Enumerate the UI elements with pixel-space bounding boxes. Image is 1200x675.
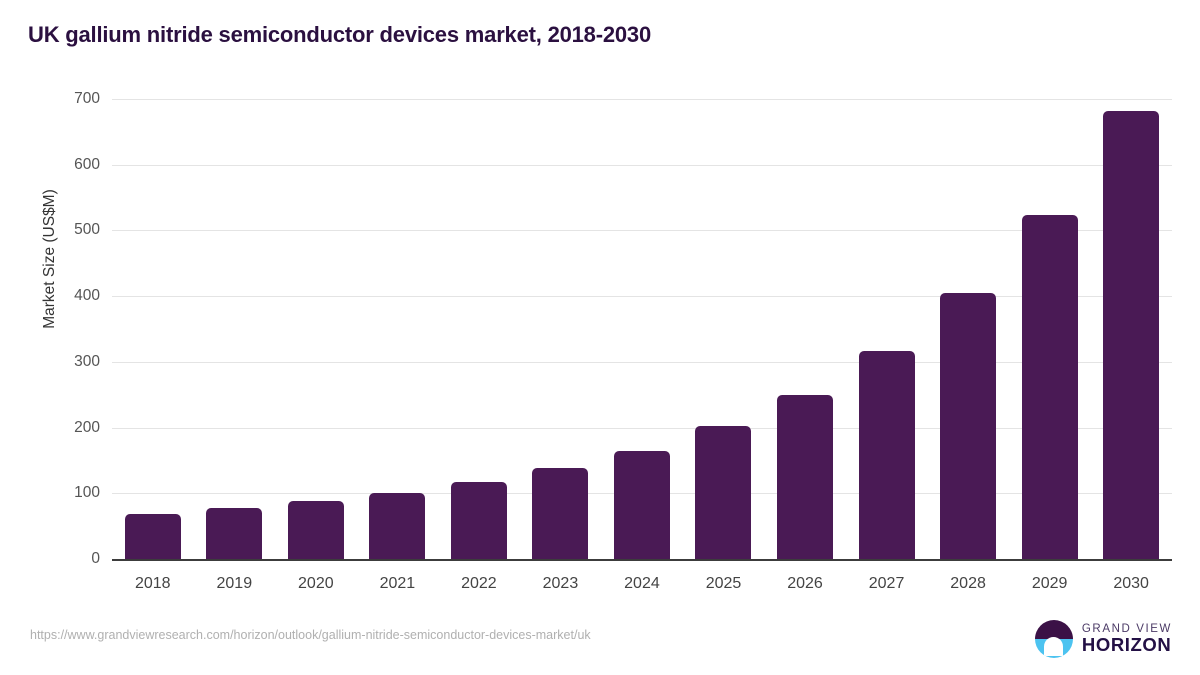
x-axis-ticks: 2018201920202021202220232024202520262027… bbox=[112, 559, 1172, 599]
bar-slot bbox=[520, 99, 602, 559]
bar-slot bbox=[683, 99, 765, 559]
bar-series bbox=[112, 99, 1172, 559]
sun-ray-2 bbox=[1049, 651, 1059, 654]
x-axis-tick-label: 2029 bbox=[1009, 559, 1091, 599]
bar-slot bbox=[357, 99, 439, 559]
x-axis-tick-label: 2025 bbox=[683, 559, 765, 599]
x-axis-tick-label: 2021 bbox=[357, 559, 439, 599]
source-url[interactable]: https://www.grandviewresearch.com/horizo… bbox=[30, 628, 591, 642]
logo-line-2: HORIZON bbox=[1082, 635, 1172, 654]
bar-2018[interactable] bbox=[125, 514, 181, 559]
bar-2020[interactable] bbox=[288, 501, 344, 559]
bar-slot bbox=[927, 99, 1009, 559]
bar-slot bbox=[846, 99, 928, 559]
x-axis-tick-label: 2022 bbox=[438, 559, 520, 599]
bar-slot bbox=[764, 99, 846, 559]
sun-ray-1 bbox=[1046, 647, 1061, 650]
x-axis-tick-label: 2024 bbox=[601, 559, 683, 599]
bar-2026[interactable] bbox=[777, 395, 833, 559]
x-axis-tick-label: 2020 bbox=[275, 559, 357, 599]
chart-page: UK gallium nitride semiconductor devices… bbox=[0, 0, 1200, 675]
y-axis-tick-label: 600 bbox=[40, 156, 100, 174]
bar-2023[interactable] bbox=[532, 468, 588, 559]
grand-view-horizon-logo[interactable]: GRAND VIEW HORIZON bbox=[1035, 620, 1172, 658]
bar-slot bbox=[601, 99, 683, 559]
y-axis-tick-label: 100 bbox=[40, 484, 100, 502]
x-axis-tick-label: 2026 bbox=[764, 559, 846, 599]
bar-2027[interactable] bbox=[859, 351, 915, 559]
bar-slot bbox=[112, 99, 194, 559]
bar-slot bbox=[194, 99, 276, 559]
bar-2019[interactable] bbox=[206, 508, 262, 559]
plot-canvas: 0100200300400500600700 bbox=[112, 99, 1172, 559]
bar-2022[interactable] bbox=[451, 482, 507, 559]
y-axis-tick-label: 0 bbox=[40, 550, 100, 568]
y-axis-tick-label: 300 bbox=[40, 353, 100, 371]
sun-horizon-icon bbox=[1035, 620, 1073, 658]
bar-slot bbox=[275, 99, 357, 559]
page-title: UK gallium nitride semiconductor devices… bbox=[28, 22, 651, 48]
bar-2029[interactable] bbox=[1022, 215, 1078, 559]
bar-2021[interactable] bbox=[369, 493, 425, 559]
bar-2025[interactable] bbox=[695, 426, 751, 559]
x-axis-tick-label: 2030 bbox=[1090, 559, 1172, 599]
x-axis-tick-label: 2028 bbox=[927, 559, 1009, 599]
x-axis-tick-label: 2027 bbox=[846, 559, 928, 599]
x-axis-tick-label: 2023 bbox=[520, 559, 602, 599]
bar-slot bbox=[438, 99, 520, 559]
bar-slot bbox=[1090, 99, 1172, 559]
bar-slot bbox=[1009, 99, 1091, 559]
x-axis-tick-label: 2019 bbox=[194, 559, 276, 599]
bar-2024[interactable] bbox=[614, 451, 670, 559]
y-axis-tick-label: 700 bbox=[40, 90, 100, 108]
y-axis-tick-label: 400 bbox=[40, 287, 100, 305]
bar-2030[interactable] bbox=[1103, 111, 1159, 559]
bar-2028[interactable] bbox=[940, 293, 996, 559]
y-axis-tick-label: 500 bbox=[40, 221, 100, 239]
y-axis-title: Market Size (US$M) bbox=[41, 59, 59, 459]
x-axis-tick-label: 2018 bbox=[112, 559, 194, 599]
chart-plot-area: Market Size (US$M) 010020030040050060070… bbox=[0, 85, 1200, 585]
logo-wordmark: GRAND VIEW HORIZON bbox=[1082, 623, 1172, 654]
y-axis-tick-label: 200 bbox=[40, 419, 100, 437]
